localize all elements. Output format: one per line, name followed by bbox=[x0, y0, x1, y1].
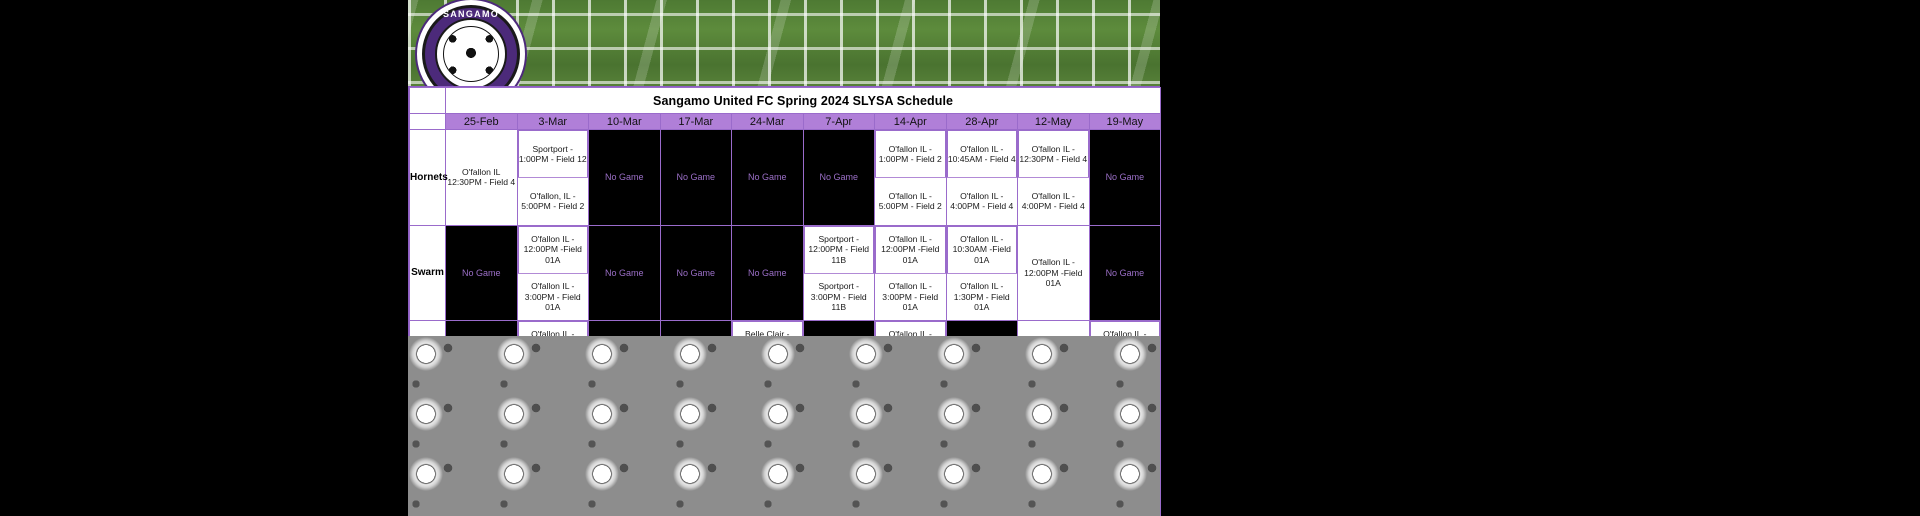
date-header-25-feb: 25-Feb bbox=[446, 114, 518, 130]
game-entry: O'fallon, IL - 5:00PM - Field 2 bbox=[518, 178, 588, 225]
game-list: O'fallon IL - 12:00PM -Field 01A bbox=[1018, 226, 1089, 321]
game-entry: O'fallon IL 12:30PM - Field 4 bbox=[446, 130, 517, 225]
game-list: O'fallon IL - 12:00PM -Field 01AO'fallon… bbox=[518, 226, 589, 321]
table-row: HornetsO'fallon IL 12:30PM - Field 4Spor… bbox=[410, 130, 1161, 226]
title-spacer bbox=[410, 88, 446, 114]
crest-inner-disc bbox=[435, 18, 507, 90]
team-name-swarm: Swarm bbox=[410, 225, 446, 321]
date-header-row: 25-Feb3-Mar10-Mar17-Mar24-Mar7-Apr14-Apr… bbox=[410, 114, 1161, 130]
schedule-cell: O'fallon IL - 10:30AM -Field 01AO'fallon… bbox=[946, 225, 1018, 321]
game-list: O'fallon IL - 10:45AM - Field 4O'fallon … bbox=[947, 130, 1018, 225]
game-entry: O'fallon IL - 12:00PM -Field 01A bbox=[518, 226, 588, 273]
schedule-cell: O'fallon IL - 12:00PM -Field 01AO'fallon… bbox=[875, 225, 947, 321]
game-entry: O'fallon IL - 3:00PM - Field 01A bbox=[518, 273, 588, 320]
date-header-28-apr: 28-Apr bbox=[946, 114, 1018, 130]
schedule-cell: O'fallon IL 12:30PM - Field 4 bbox=[446, 130, 518, 226]
no-game-cell: No Game bbox=[446, 225, 518, 321]
schedule-cell: O'fallon IL - 12:30PM - Field 4O'fallon … bbox=[1018, 130, 1090, 226]
date-header-7-apr: 7-Apr bbox=[803, 114, 875, 130]
game-entry: Sportport - 3:00PM - Field 11B bbox=[804, 273, 874, 320]
game-entry: O'fallon IL - 4:00PM - Field 4 bbox=[947, 178, 1017, 225]
footer-photo-soccer-balls bbox=[408, 336, 1160, 516]
game-entry: Sportport - 12:00PM - Field 11B bbox=[804, 226, 874, 273]
schedule-cell: O'fallon IL - 12:00PM -Field 01AO'fallon… bbox=[517, 225, 589, 321]
game-list: O'fallon IL - 1:00PM - Field 2O'fallon I… bbox=[875, 130, 946, 225]
game-entry: O'fallon IL - 12:00PM -Field 01A bbox=[1018, 226, 1089, 321]
game-list: Sportport - 12:00PM - Field 11BSportport… bbox=[804, 226, 875, 321]
schedule-cell: O'fallon IL - 12:00PM -Field 01A bbox=[1018, 225, 1090, 321]
team-name-hornets: Hornets bbox=[410, 130, 446, 226]
title-row: Sangamo United FC Spring 2024 SLYSA Sche… bbox=[410, 88, 1161, 114]
game-list: O'fallon IL 12:30PM - Field 4 bbox=[446, 130, 517, 225]
game-entry: O'fallon IL - 4:00PM - Field 4 bbox=[1019, 178, 1089, 225]
game-list: O'fallon IL - 12:30PM - Field 4O'fallon … bbox=[1018, 130, 1089, 225]
no-game-cell: No Game bbox=[1089, 130, 1161, 226]
date-header-12-may: 12-May bbox=[1018, 114, 1090, 130]
schedule-cell: O'fallon IL - 1:00PM - Field 2O'fallon I… bbox=[875, 130, 947, 226]
game-entry: O'fallon IL - 12:30PM - Field 4 bbox=[1019, 131, 1089, 178]
game-entry: O'fallon IL - 3:00PM - Field 01A bbox=[876, 273, 946, 320]
schedule-cell: O'fallon IL - 10:45AM - Field 4O'fallon … bbox=[946, 130, 1018, 226]
game-entry: O'fallon IL - 1:00PM - Field 2 bbox=[876, 131, 946, 178]
game-entry: O'fallon IL - 1:30PM - Field 01A bbox=[947, 273, 1017, 320]
soccer-ball-icon bbox=[443, 26, 499, 82]
game-entry: O'fallon IL - 12:00PM -Field 01A bbox=[876, 226, 946, 273]
date-header-10-mar: 10-Mar bbox=[589, 114, 661, 130]
game-entry: Sportport - 1:00PM - Field 12 bbox=[518, 131, 588, 178]
game-list: O'fallon IL - 10:30AM -Field 01AO'fallon… bbox=[947, 226, 1018, 321]
game-list: O'fallon IL - 12:00PM -Field 01AO'fallon… bbox=[875, 226, 946, 321]
table-row: SwarmNo GameO'fallon IL - 12:00PM -Field… bbox=[410, 225, 1161, 321]
schedule-cell: Sportport - 1:00PM - Field 12O'fallon, I… bbox=[517, 130, 589, 226]
no-game-cell: No Game bbox=[660, 130, 732, 226]
date-header-24-mar: 24-Mar bbox=[732, 114, 804, 130]
no-game-cell: No Game bbox=[732, 225, 804, 321]
no-game-cell: No Game bbox=[660, 225, 732, 321]
no-game-cell: No Game bbox=[589, 130, 661, 226]
game-entry: O'fallon IL - 10:45AM - Field 4 bbox=[947, 131, 1017, 178]
page-title: Sangamo United FC Spring 2024 SLYSA Sche… bbox=[446, 88, 1161, 114]
soccer-balls-image bbox=[408, 336, 1160, 516]
game-entry: O'fallon IL - 5:00PM - Field 2 bbox=[876, 178, 946, 225]
game-entry: O'fallon IL - 10:30AM -Field 01A bbox=[947, 226, 1017, 273]
game-list: Sportport - 1:00PM - Field 12O'fallon, I… bbox=[518, 130, 589, 225]
schedule-cell: Sportport - 12:00PM - Field 11BSportport… bbox=[803, 225, 875, 321]
date-header-14-apr: 14-Apr bbox=[875, 114, 947, 130]
no-game-cell: No Game bbox=[1089, 225, 1161, 321]
date-header-spacer bbox=[410, 114, 446, 130]
no-game-cell: No Game bbox=[803, 130, 875, 226]
date-header-17-mar: 17-Mar bbox=[660, 114, 732, 130]
date-header-3-mar: 3-Mar bbox=[517, 114, 589, 130]
no-game-cell: No Game bbox=[589, 225, 661, 321]
date-header-19-may: 19-May bbox=[1089, 114, 1161, 130]
screenshot-root: SANGAMO UNITED FC Sangamo United FC Spri… bbox=[0, 0, 1920, 516]
no-game-cell: No Game bbox=[732, 130, 804, 226]
